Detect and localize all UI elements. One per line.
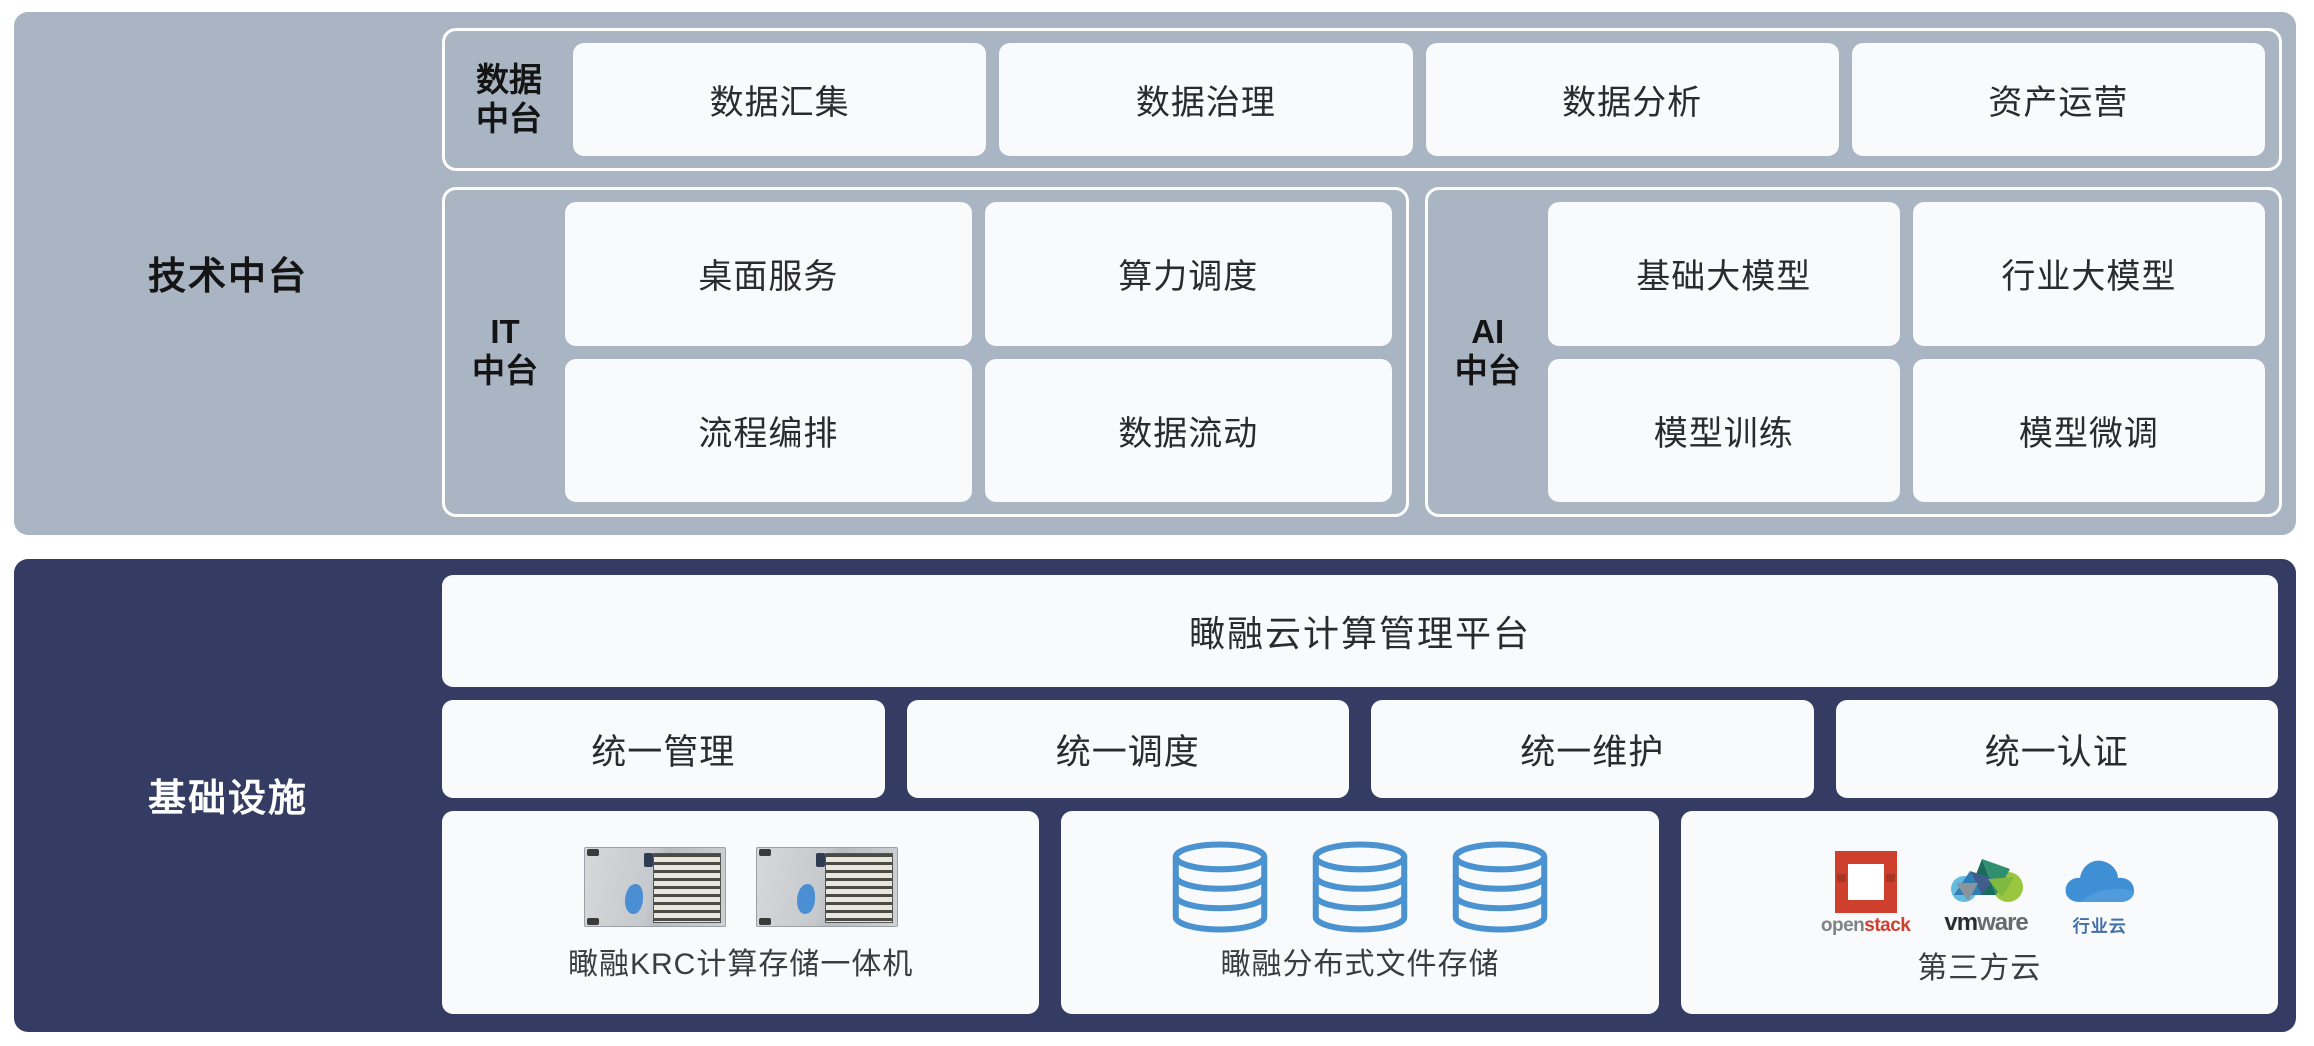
- server-appliance-icon: [756, 847, 898, 927]
- capability-card[interactable]: 算力调度: [985, 202, 1392, 346]
- capability-card[interactable]: 资产运营: [1852, 43, 2265, 156]
- openstack-word-open: open: [1821, 915, 1864, 936]
- capability-card[interactable]: 数据分析: [1426, 43, 1839, 156]
- openstack-icon: [1835, 851, 1897, 913]
- infrastructure-label: 基础设施: [14, 575, 442, 1014]
- it-ai-row: IT 中台 桌面服务 算力调度 流程编排 数据流动 AI 中台 基础大模型 行业…: [442, 187, 2282, 517]
- capability-card[interactable]: 模型训练: [1548, 359, 1900, 503]
- unified-card[interactable]: 统一认证: [1836, 700, 2279, 798]
- ai-platform-title: AI 中台: [1428, 190, 1548, 514]
- openstack-logo: openstack: [1821, 851, 1911, 937]
- hardware-caption: 第三方云: [1917, 943, 2041, 987]
- capability-card[interactable]: 行业大模型: [1913, 202, 2265, 346]
- openstack-wordmark: openstack: [1821, 915, 1911, 937]
- unified-card[interactable]: 统一管理: [442, 700, 885, 798]
- it-platform-group: IT 中台 桌面服务 算力调度 流程编排 数据流动: [442, 187, 1409, 517]
- tech-platform-body: 数据 中台 数据汇集 数据治理 数据分析 资产运营 IT 中台 桌面服务 算力调…: [442, 28, 2282, 517]
- hardware-card-third-party-cloud[interactable]: openstack: [1681, 811, 2278, 1014]
- cloud-management-platform-bar[interactable]: 瞰融云计算管理平台: [442, 575, 2278, 687]
- data-platform-title: 数据 中台: [445, 31, 573, 168]
- capability-card[interactable]: 数据流动: [985, 359, 1392, 503]
- infrastructure-body: 瞰融云计算管理平台 统一管理 统一调度 统一维护 统一认证: [442, 575, 2278, 1014]
- server-appliance-icon: [584, 847, 726, 927]
- industry-cloud-logo: 行业云: [2062, 852, 2138, 937]
- hardware-caption: 瞰融分布式文件存储: [1220, 939, 1499, 983]
- capability-card[interactable]: 流程编排: [565, 359, 972, 503]
- unified-card[interactable]: 统一维护: [1371, 700, 1814, 798]
- hardware-card-krc-appliance[interactable]: 瞰融KRC计算存储一体机: [442, 811, 1039, 1014]
- it-platform-title: IT 中台: [445, 190, 565, 514]
- vmware-logo: vmware: [1944, 849, 2027, 937]
- ai-platform-group: AI 中台 基础大模型 行业大模型 模型训练 模型微调: [1425, 187, 2282, 517]
- data-platform-group: 数据 中台 数据汇集 数据治理 数据分析 资产运营: [442, 28, 2282, 171]
- database-icon: [1305, 841, 1415, 933]
- hardware-caption: 瞰融KRC计算存储一体机: [568, 939, 913, 983]
- architecture-diagram: 技术中台 数据 中台 数据汇集 数据治理 数据分析 资产运营 IT 中台 桌面服…: [0, 0, 2314, 1046]
- database-icon: [1165, 841, 1275, 933]
- openstack-word-stack: stack: [1864, 915, 1910, 936]
- capability-card[interactable]: 数据治理: [999, 43, 1412, 156]
- capability-card[interactable]: 数据汇集: [573, 43, 986, 156]
- tech-platform-label: 技术中台: [14, 28, 442, 517]
- vmware-wordmark: vmware: [1944, 909, 2027, 937]
- capability-card[interactable]: 模型微调: [1913, 359, 2265, 503]
- vmware-word-ware: ware: [1977, 909, 2028, 936]
- hardware-card-distributed-storage[interactable]: 瞰融分布式文件存储: [1061, 811, 1658, 1014]
- infrastructure-panel: 基础设施 瞰融云计算管理平台 统一管理 统一调度 统一维护 统一认证: [14, 559, 2296, 1032]
- industry-cloud-label: 行业云: [2073, 912, 2127, 937]
- cloud-logo-strip: openstack: [1821, 837, 2138, 937]
- vmware-word-vm: vm: [1944, 909, 1977, 936]
- database-icon: [1445, 841, 1555, 933]
- unified-card[interactable]: 统一调度: [907, 700, 1350, 798]
- capability-card[interactable]: 基础大模型: [1548, 202, 1900, 346]
- server-appliance-art: [584, 841, 898, 933]
- unified-capability-row: 统一管理 统一调度 统一维护 统一认证: [442, 700, 2278, 798]
- tech-platform-panel: 技术中台 数据 中台 数据汇集 数据治理 数据分析 资产运营 IT 中台 桌面服…: [14, 12, 2296, 535]
- capability-card[interactable]: 桌面服务: [565, 202, 972, 346]
- data-platform-cells: 数据汇集 数据治理 数据分析 资产运营: [573, 31, 2279, 168]
- hardware-row: 瞰融KRC计算存储一体机: [442, 811, 2278, 1014]
- vmware-cloud-icon: [1948, 849, 2024, 907]
- cloud-icon: [2062, 852, 2138, 910]
- ai-platform-cells: 基础大模型 行业大模型 模型训练 模型微调: [1548, 190, 2279, 514]
- database-stack-art: [1165, 841, 1555, 933]
- it-platform-cells: 桌面服务 算力调度 流程编排 数据流动: [565, 190, 1406, 514]
